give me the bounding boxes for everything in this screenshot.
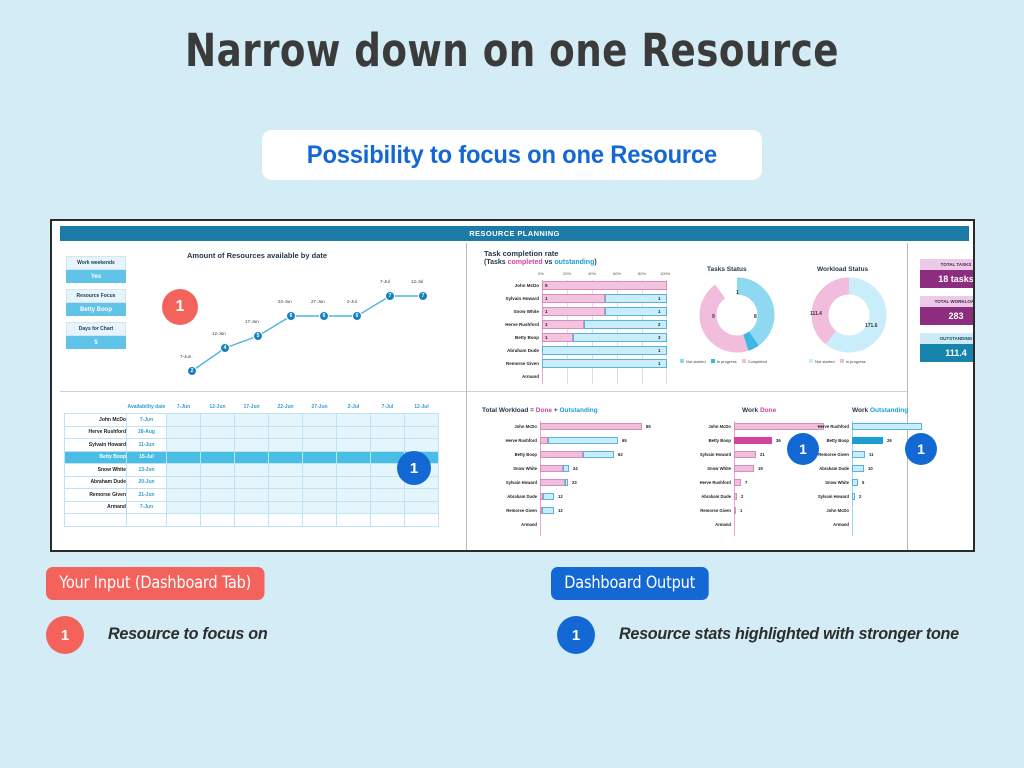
row-cell [167, 414, 201, 427]
bar-value: 2 [658, 322, 661, 327]
chart-total-workload: John McDo 85 Herve Rushford 65 Betty Boo… [540, 421, 665, 536]
bar-value: 2 [859, 494, 861, 499]
tick-label: 40% [588, 271, 596, 276]
row-cell [405, 426, 439, 439]
row-cell [201, 501, 235, 514]
row-cell [167, 464, 201, 477]
col-header-date: 17-Jun [235, 401, 269, 414]
badge-output-work-done: 1 [787, 433, 819, 465]
row-date: 15-Jul [127, 451, 167, 464]
data-point-label: 7-Jun [180, 354, 191, 359]
bar-value: 36 [776, 438, 781, 443]
table-row-empty [65, 514, 439, 527]
bar-value: 10 [868, 466, 873, 471]
col-header-date: 22-Jun [269, 401, 303, 414]
control-value[interactable]: Betty Boop [66, 303, 126, 316]
tick-label: 100% [660, 271, 670, 276]
bar-row: John McDo 5 [542, 281, 667, 290]
kpi-total-tasks: TOTAL TASKS 18 tasks [920, 259, 975, 288]
chart-tasks-status: 1 8 9 [682, 276, 792, 359]
row-cell [337, 439, 371, 452]
title-part: Workload [499, 407, 529, 414]
row-cell [235, 426, 269, 439]
bar-value: 1 [545, 296, 548, 301]
row-cell [371, 514, 405, 527]
legend-item: Not started [809, 359, 835, 364]
kpi-total-workload: TOTAL WORKLOAD 283 [920, 296, 975, 325]
control-days-for-chart[interactable]: Days for Chart 5 [66, 322, 126, 349]
col-header-date: 12-Jun [201, 401, 235, 414]
title-part-outstanding: Outstanding [870, 407, 908, 414]
control-label: Days for Chart [66, 322, 126, 336]
title-part: Work [742, 407, 760, 414]
row-cell [269, 489, 303, 502]
row-cell [371, 439, 405, 452]
bar-value: 12 [558, 508, 563, 513]
bar-row: Snow White 1 1 [542, 307, 667, 316]
row-name: Remorse Given [65, 489, 127, 502]
bar-value: 12 [558, 494, 563, 499]
bar-label: Abraham Dude [507, 348, 539, 353]
row-cell [235, 489, 269, 502]
data-point-label: 2-Jul [347, 299, 357, 304]
bar-label: Abraham Dude [507, 494, 537, 499]
col-header-date: 27-Jun [303, 401, 337, 414]
data-point: 6 [286, 311, 296, 321]
bar-label: Sylvain Howard [506, 480, 537, 485]
row-cell [167, 489, 201, 502]
chart-title-total-workload: Total Workload = Done + Outstanding [482, 407, 598, 414]
title-part-outstanding: Outstanding [559, 407, 597, 414]
row-cell [337, 464, 371, 477]
table-header-row: Availability date 7-Jun 12-Jun 17-Jun 22… [65, 401, 439, 414]
bar-label: Armand [522, 374, 539, 379]
bar-row: Armand [542, 372, 667, 381]
kpi-label: TOTAL TASKS [920, 259, 975, 270]
data-point-label: 22-Jun [278, 299, 292, 304]
row-cell [405, 439, 439, 452]
bar-value: 3 [658, 335, 661, 340]
bar-value: 19 [758, 466, 763, 471]
chart-title-tasks-status: Tasks Status [707, 266, 747, 273]
data-point-label: 17-Jun [245, 319, 259, 324]
row-date: 13-Jun [127, 464, 167, 477]
table-row[interactable]: Armand 7-Jun [65, 501, 439, 514]
row-date: 7-Jun [127, 414, 167, 427]
chart-work-outstanding: Herve Rushford Betty Boop 26 Remorse Giv… [852, 421, 957, 536]
legend-workload-status: Not started In progress [809, 359, 866, 364]
panel-divider-mid-left [60, 391, 466, 392]
bar-value: 85 [646, 424, 651, 429]
bar-label: John McDo [826, 508, 849, 513]
row-cell [405, 414, 439, 427]
row-cell [167, 476, 201, 489]
bar-row: Abraham Dude 1 [542, 346, 667, 355]
bar-label: Herve Rushford [818, 424, 849, 429]
chart-title-workload-status: Workload Status [817, 266, 868, 273]
row-date: 28-Aug [127, 426, 167, 439]
row-cell [201, 414, 235, 427]
chart-title-work-outstanding: Work Outstanding [852, 407, 908, 414]
data-point-label: 12-Jun [212, 331, 226, 336]
kpi-value: 283 [920, 307, 975, 325]
control-value[interactable]: Yes [66, 270, 126, 283]
chart-work-done: John McDo Betty Boop 36 Sylvain Howard 2… [734, 421, 839, 536]
tick-label: 0% [538, 271, 544, 276]
data-point: 5 [253, 331, 263, 341]
bar-label: Snow White [514, 309, 540, 314]
row-cell [337, 451, 371, 464]
row-cell [371, 489, 405, 502]
data-point: 7 [418, 291, 428, 301]
panel-divider-mid-right [467, 391, 907, 392]
row-name: John McDo [65, 414, 127, 427]
legend-output-text: Resource stats highlighted with stronger… [619, 624, 959, 644]
row-cell [269, 426, 303, 439]
col-header-date: 7-Jul [371, 401, 405, 414]
row-cell [201, 514, 235, 527]
bar-row: Remorse Given 1 [542, 359, 667, 368]
row-cell [303, 489, 337, 502]
page-title: Narrow down on one Resource [41, 24, 983, 77]
bar-label: Snow White [707, 466, 731, 471]
dashboard-header-bar: RESOURCE PLANNING [60, 226, 969, 241]
title-part: Work [852, 407, 870, 414]
bar-value: 11 [869, 452, 873, 457]
col-header-date: 12-Jul [405, 401, 439, 414]
bar-value: 1 [545, 309, 548, 314]
row-cell [303, 426, 337, 439]
row-cell [235, 414, 269, 427]
bar-label: Betty Boop [515, 452, 537, 457]
row-name: Armand [65, 501, 127, 514]
control-label: Work weekends [66, 256, 126, 270]
row-date [127, 514, 167, 527]
row-cell [269, 464, 303, 477]
row-cell [167, 501, 201, 514]
control-value[interactable]: 5 [66, 336, 126, 349]
bar-value: 23 [572, 480, 577, 485]
subtitle-part: (Tasks [484, 259, 508, 266]
legend-item: Completed [742, 359, 767, 364]
data-point-label: 27-Jun [311, 299, 325, 304]
row-cell [371, 414, 405, 427]
title-part-done: Done [760, 407, 776, 414]
subtitle-part: vs [543, 259, 555, 266]
row-cell [235, 514, 269, 527]
bar-label: John McDo [515, 283, 539, 288]
bar-label: Sylvain Howard [505, 296, 539, 301]
row-cell [167, 439, 201, 452]
col-header-name [65, 401, 127, 414]
row-name: Herve Rushford [65, 426, 127, 439]
row-cell [201, 489, 235, 502]
row-cell [235, 464, 269, 477]
bar-label: Snow White [825, 480, 849, 485]
availability-table-wrap: Availability date 7-Jun 12-Jun 17-Jun 22… [64, 401, 439, 527]
donut-value-completed: 9 [712, 314, 715, 320]
row-cell [371, 501, 405, 514]
bar-value: 26 [887, 438, 892, 443]
bar-value: 1 [658, 348, 661, 353]
bar-label: Abraham Dude [701, 494, 731, 499]
availability-table: Availability date 7-Jun 12-Jun 17-Jun 22… [64, 401, 439, 527]
row-cell [303, 514, 337, 527]
row-cell [303, 439, 337, 452]
bar-value: 1 [658, 296, 661, 301]
legend-input-pill: Your Input (Dashboard Tab) [46, 567, 264, 600]
data-point: 6 [352, 311, 362, 321]
chart-resources-available: 2 7-Jun 4 12-Jun 5 17-Jun 6 22-Jun 6 27-… [170, 266, 460, 381]
chart-task-completion-rate: 0% 20% 40% 60% 80% 100% John McDo 5 Sylv… [542, 273, 667, 385]
title-part-done: Done [536, 407, 552, 414]
col-header-date: 7-Jun [167, 401, 201, 414]
bar-value: 1 [658, 361, 661, 366]
row-name [65, 514, 127, 527]
bar-row: Herve Rushford 1 2 [542, 320, 667, 329]
kpi-label: OUTSTANDING [920, 333, 975, 344]
row-cell [303, 464, 337, 477]
bar-label: Remorse Given [818, 452, 849, 457]
row-cell [235, 451, 269, 464]
table-row[interactable]: Sylvain Howard 11-Jun [65, 439, 439, 452]
bar-value: 7 [745, 480, 747, 485]
row-cell [167, 426, 201, 439]
data-point-label: 12-Jul [411, 279, 423, 284]
bar-row: Sylvain Howard 1 1 [542, 294, 667, 303]
subtitle-text: Possibility to focus on one Resource [307, 141, 717, 170]
subtitle-part-outstanding: outstanding [554, 259, 594, 266]
bar-label: Betty Boop [827, 438, 849, 443]
row-cell [371, 426, 405, 439]
bar-value: 1 [658, 309, 661, 314]
bar-value: 24 [573, 466, 578, 471]
legend-tasks-status: Not started In progress Completed [680, 359, 767, 364]
bar-row: Betty Boop 1 3 [542, 333, 667, 342]
donut-value-in-progress: 111.4 [810, 311, 822, 317]
bar-label: Herve Rushford [505, 322, 539, 327]
bar-value: 5 [862, 480, 864, 485]
legend-input-badge: 1 [46, 616, 84, 654]
chart-title-task-completion: Task completion rate [484, 249, 558, 258]
row-cell [303, 501, 337, 514]
row-name: Betty Boop [65, 451, 127, 464]
row-cell [337, 414, 371, 427]
row-cell [269, 476, 303, 489]
tick-label: 80% [638, 271, 646, 276]
table-row[interactable]: Herve Rushford 28-Aug [65, 426, 439, 439]
legend-input-text: Resource to focus on [108, 624, 267, 644]
kpi-outstanding: OUTSTANDING 111.4 [920, 333, 975, 362]
tick-label: 20% [563, 271, 571, 276]
bar-label: John McDo [514, 424, 537, 429]
row-cell [405, 489, 439, 502]
donut-value-in-progress: 1 [736, 290, 739, 296]
bar-value: 65 [622, 438, 627, 443]
dashboard-screenshot: RESOURCE PLANNING Work weekends Yes Reso… [50, 219, 975, 552]
row-cell [269, 451, 303, 464]
data-point: 6 [319, 311, 329, 321]
row-date: 20-Jun [127, 476, 167, 489]
row-cell [201, 439, 235, 452]
bar-value: 1 [545, 335, 548, 340]
row-name: Sylvain Howard [65, 439, 127, 452]
donut-value-not-started: 171.6 [865, 323, 878, 329]
subtitle-banner: Possibility to focus on one Resource [262, 130, 762, 180]
subtitle-part: ) [594, 259, 596, 266]
row-cell [337, 501, 371, 514]
row-cell [167, 514, 201, 527]
subtitle-part-completed: completed [508, 259, 543, 266]
chart-subtitle-task-completion: (Tasks completed vs outstanding) [484, 259, 597, 266]
bar-label: Sylvain Howard [700, 452, 731, 457]
bar-label: Snow White [513, 466, 537, 471]
bar-label: Betty Boop [515, 335, 539, 340]
row-cell [269, 439, 303, 452]
row-cell [337, 489, 371, 502]
data-point: 2 [187, 366, 197, 376]
row-cell [201, 476, 235, 489]
row-cell [405, 501, 439, 514]
panel-divider-left [466, 243, 467, 552]
title-part: = [528, 407, 535, 414]
row-cell [269, 414, 303, 427]
control-label: Resource Focus [66, 289, 126, 303]
row-cell [201, 451, 235, 464]
row-cell [337, 426, 371, 439]
row-cell [201, 464, 235, 477]
bar-label: Armand [833, 522, 849, 527]
bar-label: Armand [715, 522, 731, 527]
legend-output-badge: 1 [557, 616, 595, 654]
chart-workload-status: 111.4 171.6 [794, 276, 904, 359]
control-work-weekends[interactable]: Work weekends Yes [66, 256, 126, 283]
bar-value: 62 [618, 452, 623, 457]
bar-label: Armand [521, 522, 537, 527]
data-point-label: 7-Jul [380, 279, 390, 284]
data-point: 4 [220, 343, 230, 353]
badge-output-1: 1 [397, 451, 431, 485]
bar-label: Remorse Given [506, 361, 539, 366]
bar-value: 21 [760, 452, 765, 457]
bar-value: 5 [545, 283, 548, 288]
row-date: 7-Jun [127, 501, 167, 514]
chart-title-resources-available: Amount of Resources available by date [187, 251, 327, 260]
tick-label: 60% [613, 271, 621, 276]
table-row-highlighted[interactable]: Betty Boop 15-Jul [65, 451, 439, 464]
row-cell [235, 476, 269, 489]
row-cell [167, 451, 201, 464]
row-date: 11-Jun [127, 439, 167, 452]
bar-value: 1 [740, 508, 742, 513]
row-name: Abraham Dude [65, 476, 127, 489]
bar-label: Betty Boop [709, 438, 731, 443]
donut-value-not-started: 8 [754, 314, 757, 320]
bar-label: John McDo [708, 424, 731, 429]
bar-label: Herve Rushford [506, 438, 537, 443]
row-cell [269, 501, 303, 514]
bar-value: 1 [545, 322, 548, 327]
row-cell [201, 426, 235, 439]
row-cell [303, 414, 337, 427]
badge-output-work-outstanding: 1 [905, 433, 937, 465]
bar-label: Abraham Dude [819, 466, 849, 471]
row-cell [405, 514, 439, 527]
chart-title-work-done: Work Done [742, 407, 776, 414]
col-header-availability-date: Availability date [127, 401, 167, 414]
table-row[interactable]: Snow White 13-Jun [65, 464, 439, 477]
kpi-value: 18 tasks [920, 270, 975, 288]
table-row[interactable]: Abraham Dude 20-Jun [65, 476, 439, 489]
data-point: 7 [385, 291, 395, 301]
control-resource-focus[interactable]: Resource Focus Betty Boop [66, 289, 126, 316]
row-cell [303, 476, 337, 489]
donut-svg [682, 276, 792, 354]
bar-label: Remorse Given [700, 508, 731, 513]
bar-label: Remorse Given [506, 508, 537, 513]
row-cell [337, 514, 371, 527]
col-header-date: 2-Jul [337, 401, 371, 414]
row-date: 21-Jun [127, 489, 167, 502]
kpi-value: 111.4 [920, 344, 975, 362]
row-cell [235, 439, 269, 452]
kpi-label: TOTAL WORKLOAD [920, 296, 975, 307]
table-row[interactable]: Remorse Given 21-Jun [65, 489, 439, 502]
title-part: Total [482, 407, 499, 414]
bar-value: 2 [741, 494, 743, 499]
legend-item: Not started [680, 359, 706, 364]
row-cell [235, 501, 269, 514]
row-cell [303, 451, 337, 464]
table-row[interactable]: John McDo 7-Jun [65, 414, 439, 427]
legend-item: In progress [840, 359, 866, 364]
bar-label: Sylvain Howard [818, 494, 849, 499]
legend-output-pill: Dashboard Output [551, 567, 708, 600]
row-cell [337, 476, 371, 489]
legend-item: In progress [711, 359, 737, 364]
row-cell [269, 514, 303, 527]
bar-label: Herve Rushford [700, 480, 731, 485]
row-name: Snow White [65, 464, 127, 477]
